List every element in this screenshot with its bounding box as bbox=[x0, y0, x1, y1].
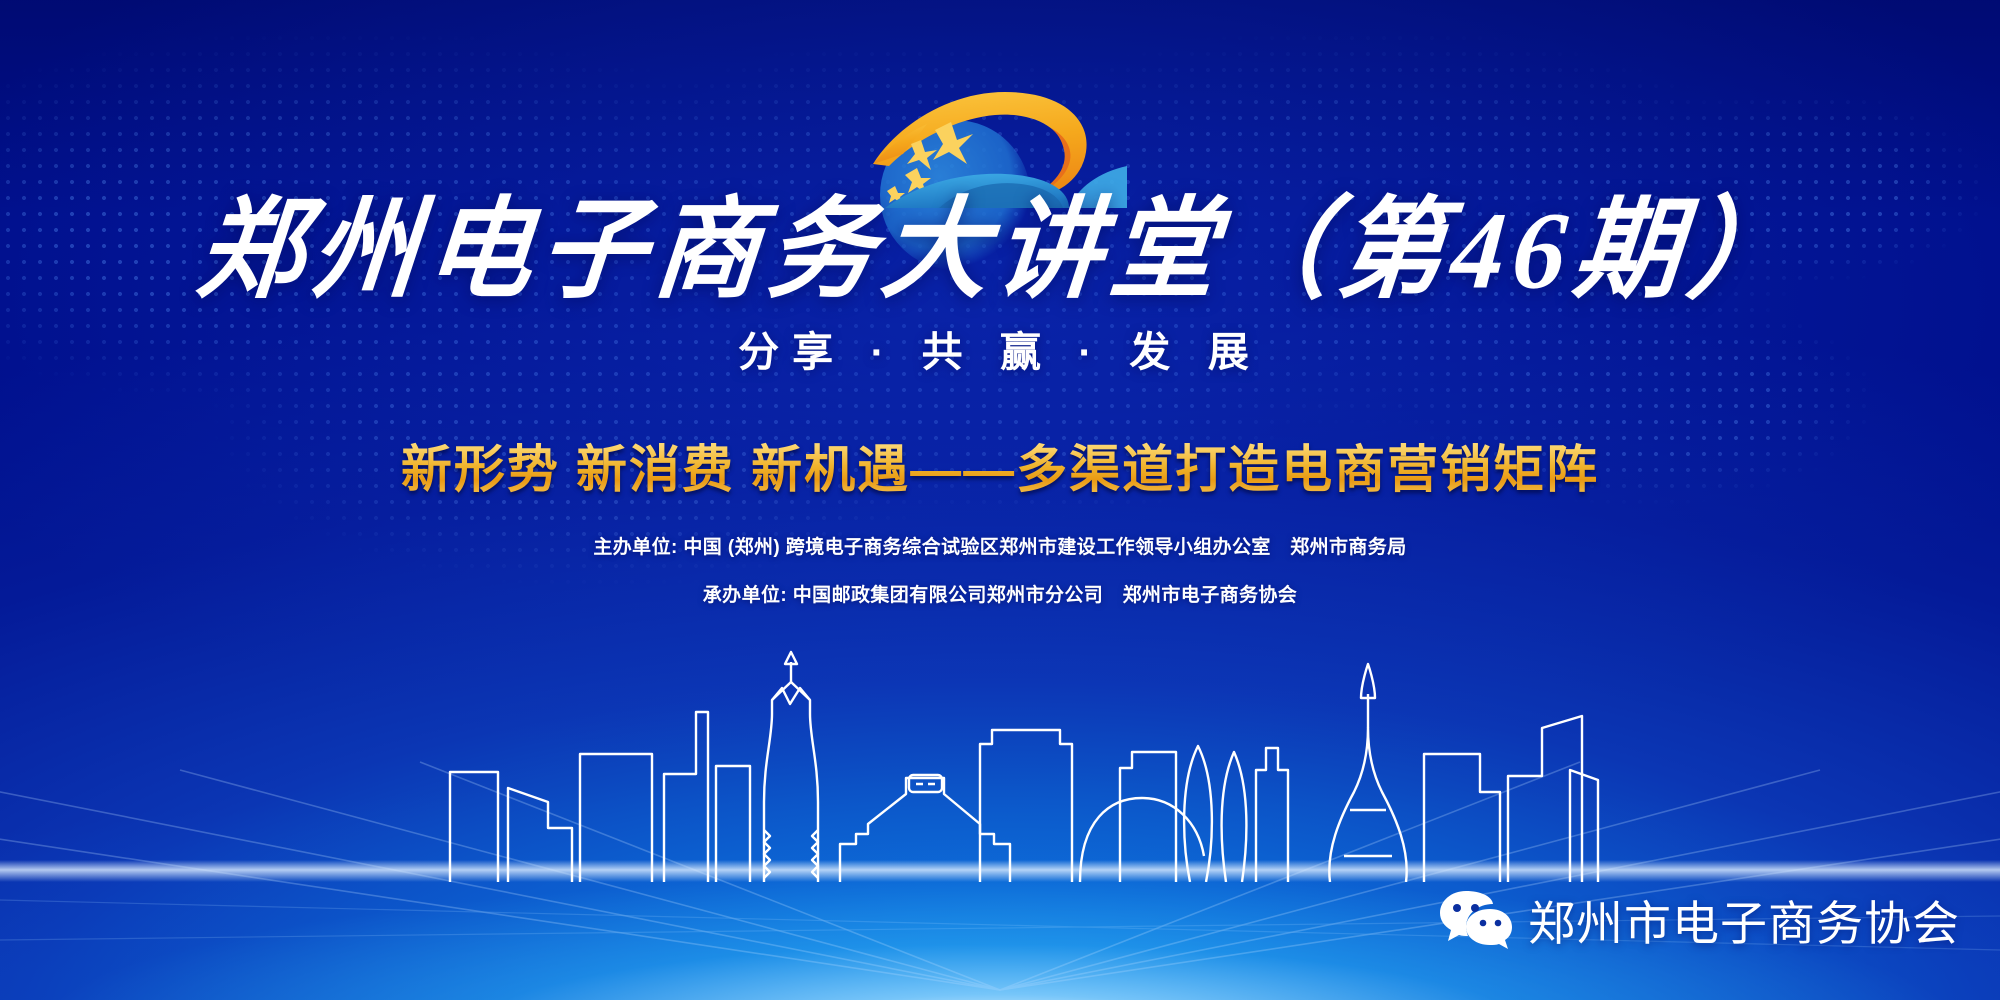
organizer-line-coorganizer: 承办单位: 中国邮政集团有限公司郑州市分公司 郑州市电子商务协会 bbox=[0, 580, 2000, 607]
poster-headline: 新形势 新消费 新机遇——多渠道打造电商营销矩阵 bbox=[401, 428, 1599, 502]
wechat-account-name: 郑州市电子商务协会 bbox=[1528, 885, 1960, 954]
poster-headline-container: 新形势 新消费 新机遇——多渠道打造电商营销矩阵 bbox=[0, 428, 2000, 502]
wechat-account-badge[interactable]: 郑州市电子商务协会 bbox=[1438, 885, 1960, 954]
poster-title-container: 郑州电子商务大讲堂（第46期） bbox=[0, 198, 2000, 304]
organizer-line-host: 主办单位: 中国 (郑州) 跨境电子商务综合试验区郑州市建设工作领导小组办公室 … bbox=[0, 532, 2000, 559]
poster-canvas: 郑州电子商务大讲堂（第46期） 分享 · 共 赢 · 发 展 新形势 新消费 新… bbox=[0, 0, 2000, 1000]
zhengzhou-city-skyline bbox=[420, 642, 1600, 882]
organizer-block: 主办单位: 中国 (郑州) 跨境电子商务综合试验区郑州市建设工作领导小组办公室 … bbox=[0, 532, 2000, 628]
zhengzhou-ecommerce-logo bbox=[855, 68, 1145, 208]
poster-slogan-container: 分享 · 共 赢 · 发 展 bbox=[0, 318, 2000, 378]
poster-slogan: 分享 · 共 赢 · 发 展 bbox=[738, 318, 1262, 378]
poster-title: 郑州电子商务大讲堂（第46期） bbox=[193, 196, 1807, 306]
wechat-icon bbox=[1438, 889, 1512, 951]
